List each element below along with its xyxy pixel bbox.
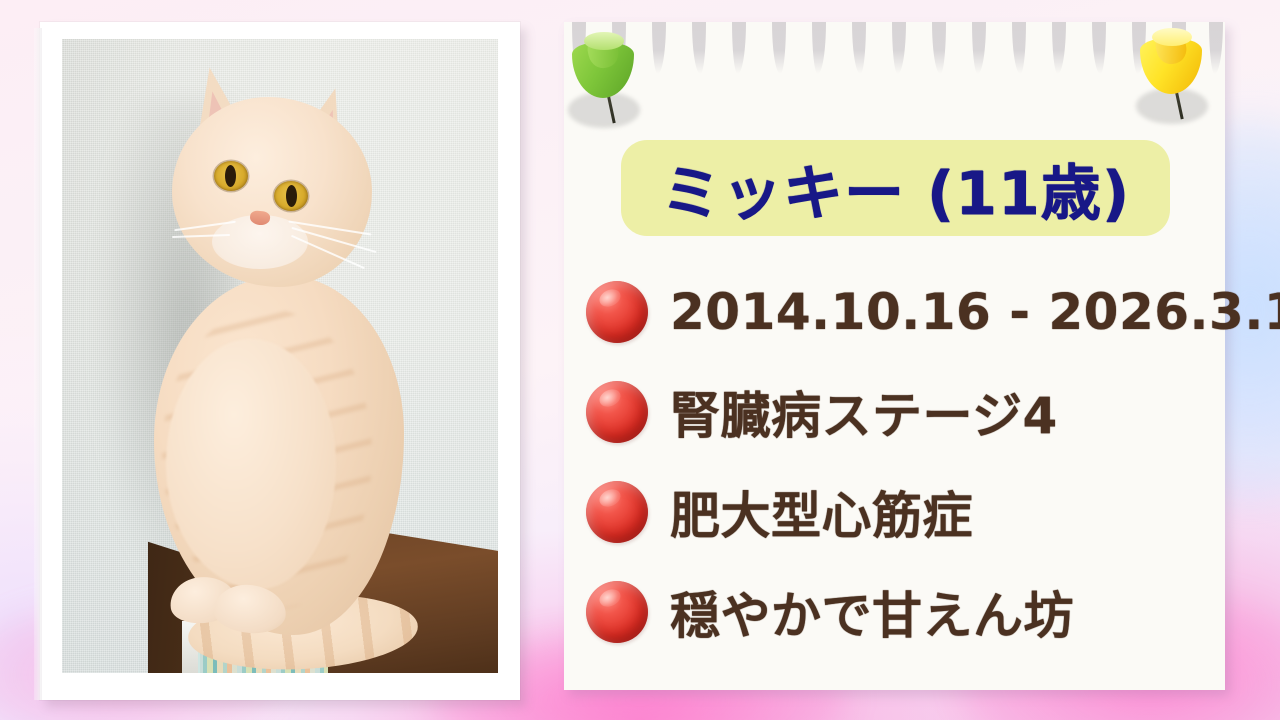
list-item-label: 肥大型心筋症 [670,476,973,548]
list-item: 2014.10.16 - 2026.3.1 [586,262,1206,362]
red-circle-bullet-icon [586,581,648,643]
cat-pupil-left [225,165,236,187]
pushpin-cap [584,32,624,50]
cat-photo [62,39,498,673]
yellow-pushpin-icon [1130,26,1216,136]
red-circle-bullet-icon [586,381,648,443]
cat-figure [62,39,498,673]
red-circle-bullet-icon [586,481,648,543]
pushpin-cap [1152,28,1192,46]
red-circle-bullet-icon [586,281,648,343]
list-item: 肥大型心筋症 [586,462,1206,562]
list-item: 腎臓病ステージ4 [586,362,1206,462]
photo-frame [40,22,520,700]
cat-pupil-right [286,185,297,207]
list-item: 穏やかで甘えん坊 [586,562,1206,662]
green-pushpin-icon [562,30,648,140]
slide-canvas: ミッキー (11歳) 2014.10.16 - 2026.3.1 腎臓病ステージ… [0,0,1280,720]
list-item-label: 腎臓病ステージ4 [670,376,1058,448]
notepad-torn-edge [564,22,1225,82]
list-item-label: 穏やかで甘えん坊 [670,576,1074,648]
pet-name-highlight: ミッキー (11歳) [621,140,1170,236]
list-item-label: 2014.10.16 - 2026.3.1 [670,283,1280,341]
pet-info-list: 2014.10.16 - 2026.3.1 腎臓病ステージ4 肥大型心筋症 穏や… [586,262,1206,662]
page-title: ミッキー (11歳) [661,145,1130,232]
